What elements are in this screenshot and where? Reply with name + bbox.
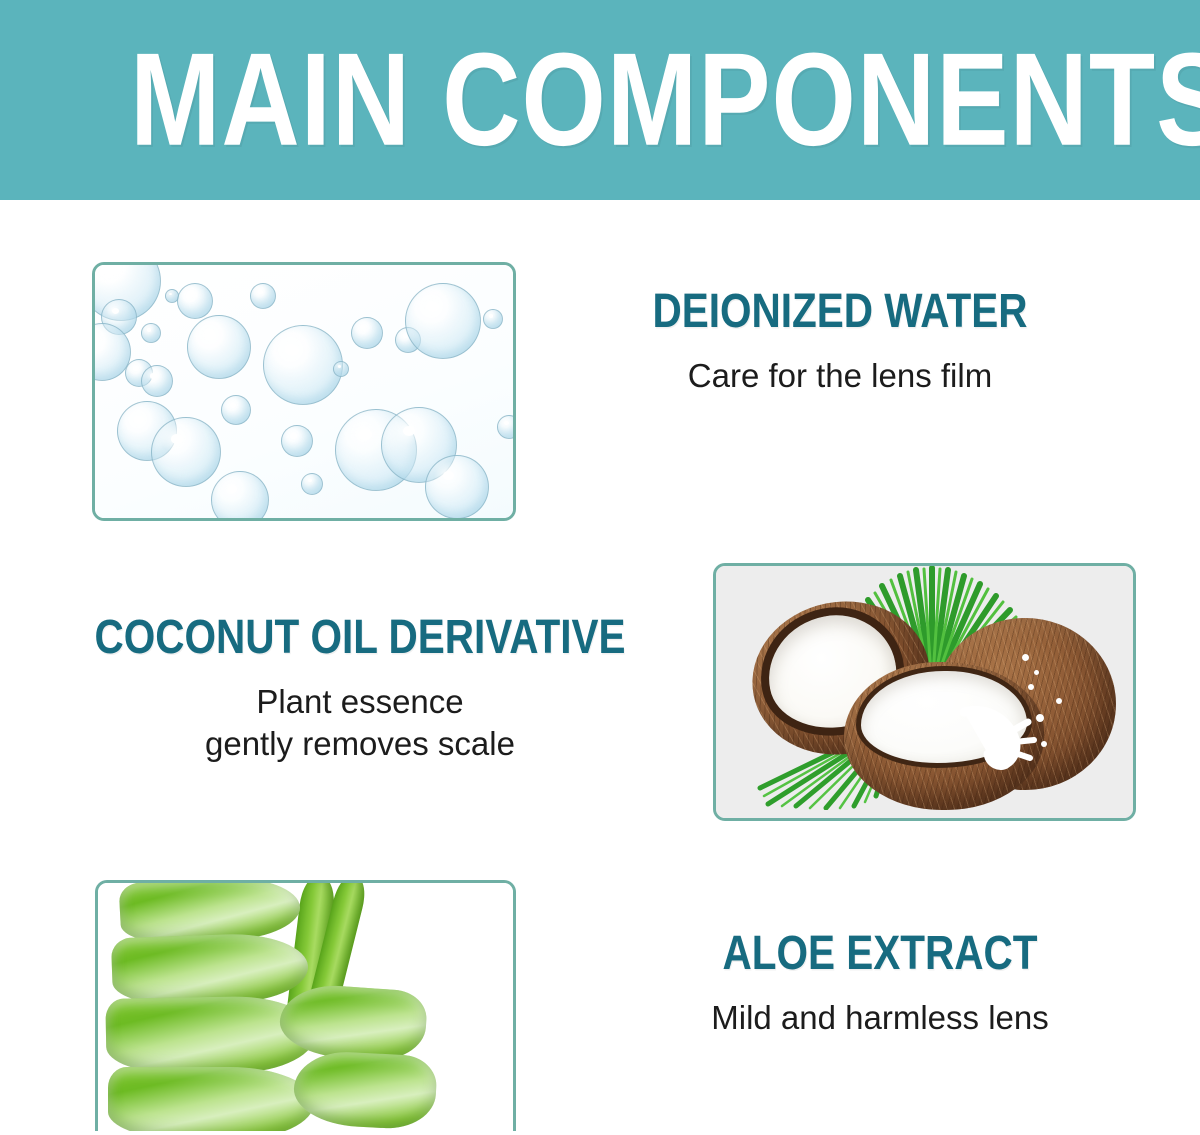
water-bubbles-image xyxy=(92,262,516,521)
coconut-artwork xyxy=(716,566,1133,818)
component-description: Mild and harmless lens xyxy=(640,975,1120,1039)
aloe-vera-image xyxy=(95,880,516,1131)
aloe-slice xyxy=(108,1067,314,1131)
header-bar: MAIN COMPONENTS xyxy=(0,0,1200,200)
milk-droplet xyxy=(1022,654,1029,661)
component-description: Plant essence gently removes scale xyxy=(60,659,660,765)
milk-splash xyxy=(960,702,1050,774)
component-text-aloe-extract: ALOE EXTRACT Mild and harmless lens xyxy=(640,930,1120,1039)
milk-droplet xyxy=(1028,684,1034,690)
milk-droplet xyxy=(1056,698,1062,704)
component-text-deionized-water: DEIONIZED WATER Care for the lens film xyxy=(600,288,1080,397)
aloe-slice xyxy=(292,1049,438,1130)
coconut-image xyxy=(713,563,1136,821)
component-heading: COCONUT OIL DERIVATIVE xyxy=(90,612,630,661)
bubbles-artwork xyxy=(95,265,513,518)
component-heading: DEIONIZED WATER xyxy=(624,286,1056,335)
component-heading: ALOE EXTRACT xyxy=(664,928,1096,977)
milk-droplet xyxy=(1034,670,1039,675)
aloe-artwork xyxy=(98,883,513,1131)
component-text-coconut-oil-derivative: COCONUT OIL DERIVATIVE Plant essence gen… xyxy=(60,614,660,765)
aloe-slice xyxy=(111,932,309,1007)
component-description: Care for the lens film xyxy=(600,333,1080,397)
page-title: MAIN COMPONENTS xyxy=(130,34,1200,166)
